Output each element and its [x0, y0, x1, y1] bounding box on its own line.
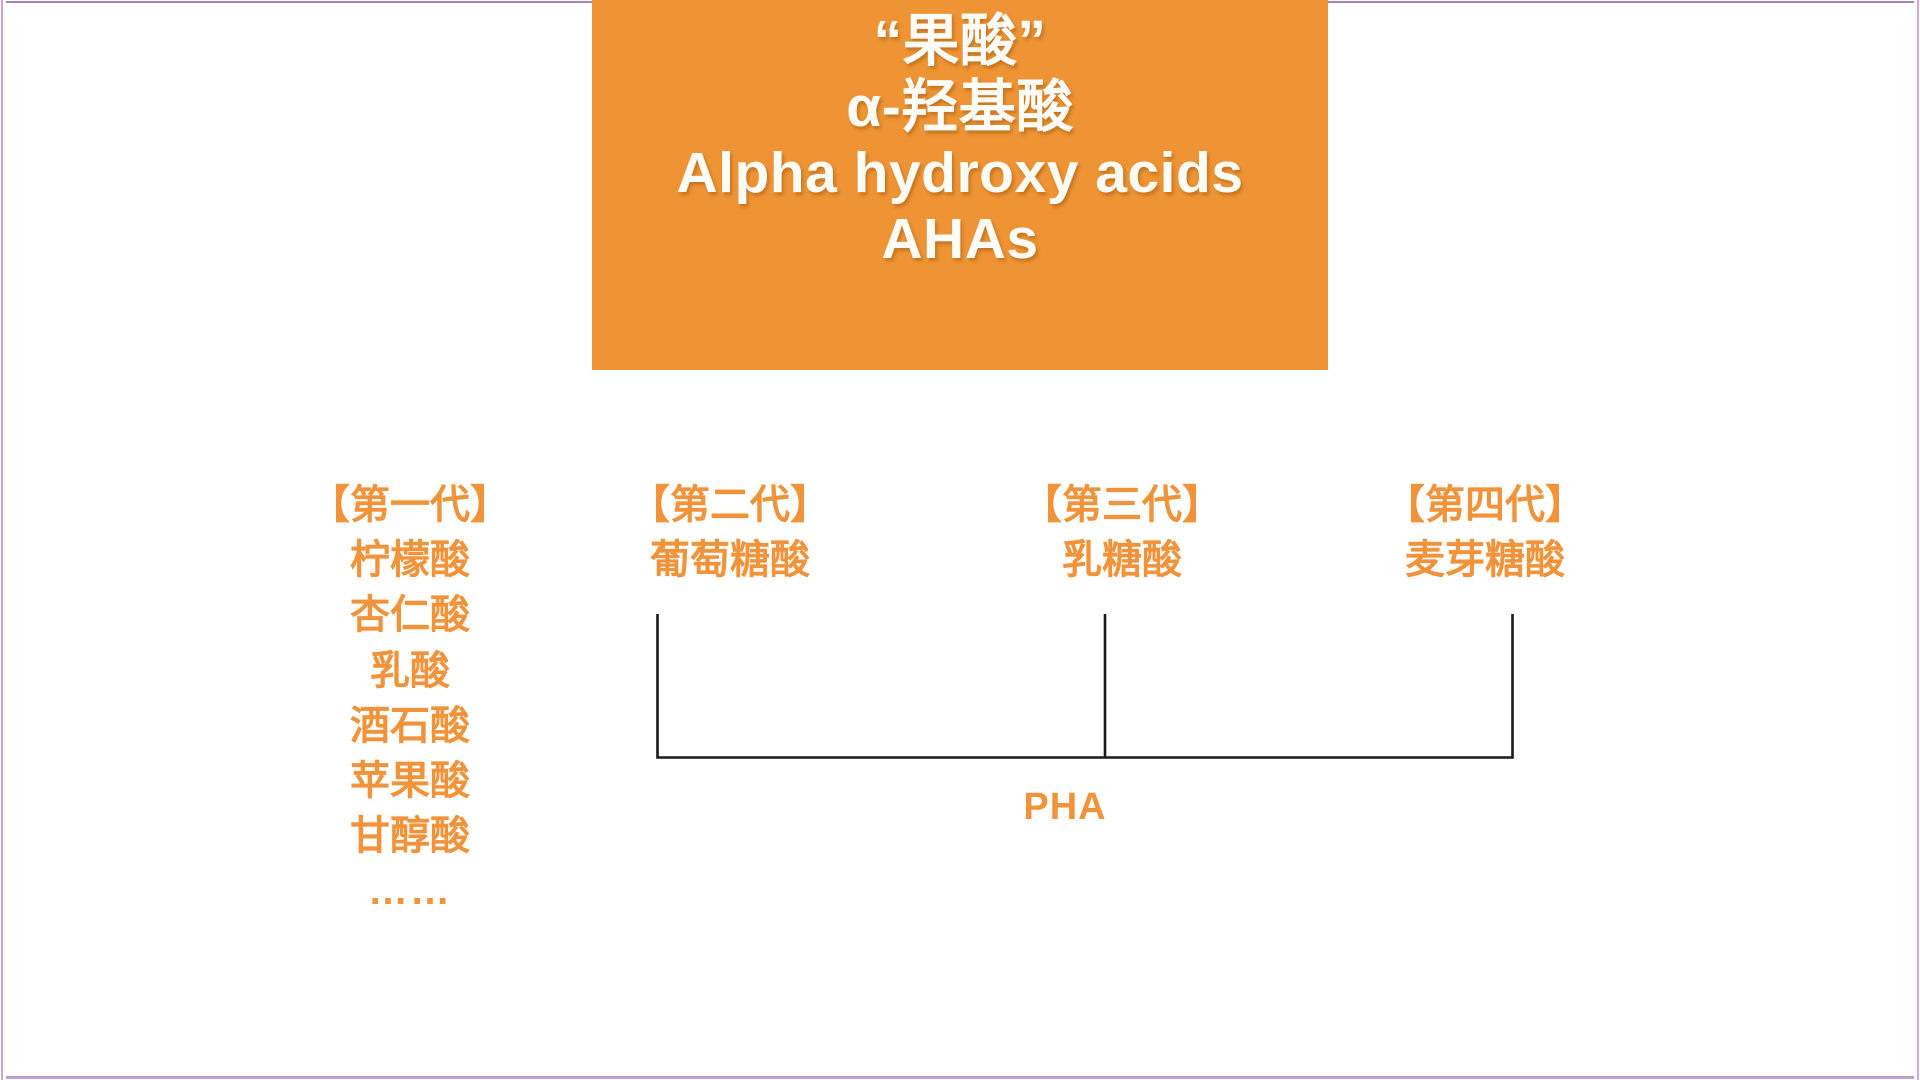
generation-1-heading: 【第一代】	[250, 478, 570, 533]
generation-column-2: 【第二代】 葡萄糖酸	[570, 478, 890, 588]
generation-1-item-6: 甘醇酸	[250, 809, 570, 864]
title-line-chinese-name: α-羟基酸	[846, 74, 1074, 140]
generation-1-item-2: 杏仁酸	[250, 588, 570, 643]
slide-frame-right	[1914, 0, 1920, 1080]
generation-1-item-4: 酒石酸	[250, 699, 570, 754]
generation-2-item-1: 葡萄糖酸	[570, 533, 890, 588]
generation-3-item-1: 乳糖酸	[962, 533, 1282, 588]
title-line-nickname: “果酸”	[874, 8, 1047, 74]
generation-column-1: 【第一代】 柠檬酸 杏仁酸 乳酸 酒石酸 苹果酸 甘醇酸 ……	[250, 478, 570, 920]
slide-frame-left	[0, 0, 6, 1080]
pha-label: PHA	[955, 786, 1175, 829]
generation-1-item-1: 柠檬酸	[250, 533, 570, 588]
generation-column-4: 【第四代】 麦芽糖酸	[1325, 478, 1645, 588]
pha-grouping-bracket	[655, 614, 1515, 772]
generation-2-heading: 【第二代】	[570, 478, 890, 533]
generation-3-heading: 【第三代】	[962, 478, 1282, 533]
slide-canvas: “果酸” α-羟基酸 Alpha hydroxy acids AHAs 【第一代…	[0, 0, 1920, 1080]
generation-1-item-5: 苹果酸	[250, 754, 570, 809]
generation-1-ellipsis: ……	[250, 864, 570, 919]
generation-column-3: 【第三代】 乳糖酸	[962, 478, 1282, 588]
generation-4-item-1: 麦芽糖酸	[1325, 533, 1645, 588]
slide-frame-bottom	[0, 1072, 1920, 1080]
title-line-english-name: Alpha hydroxy acids	[676, 140, 1243, 206]
generation-4-heading: 【第四代】	[1325, 478, 1645, 533]
generation-1-item-3: 乳酸	[250, 644, 570, 699]
title-banner: “果酸” α-羟基酸 Alpha hydroxy acids AHAs	[592, 0, 1328, 370]
title-line-abbreviation: AHAs	[881, 206, 1038, 272]
